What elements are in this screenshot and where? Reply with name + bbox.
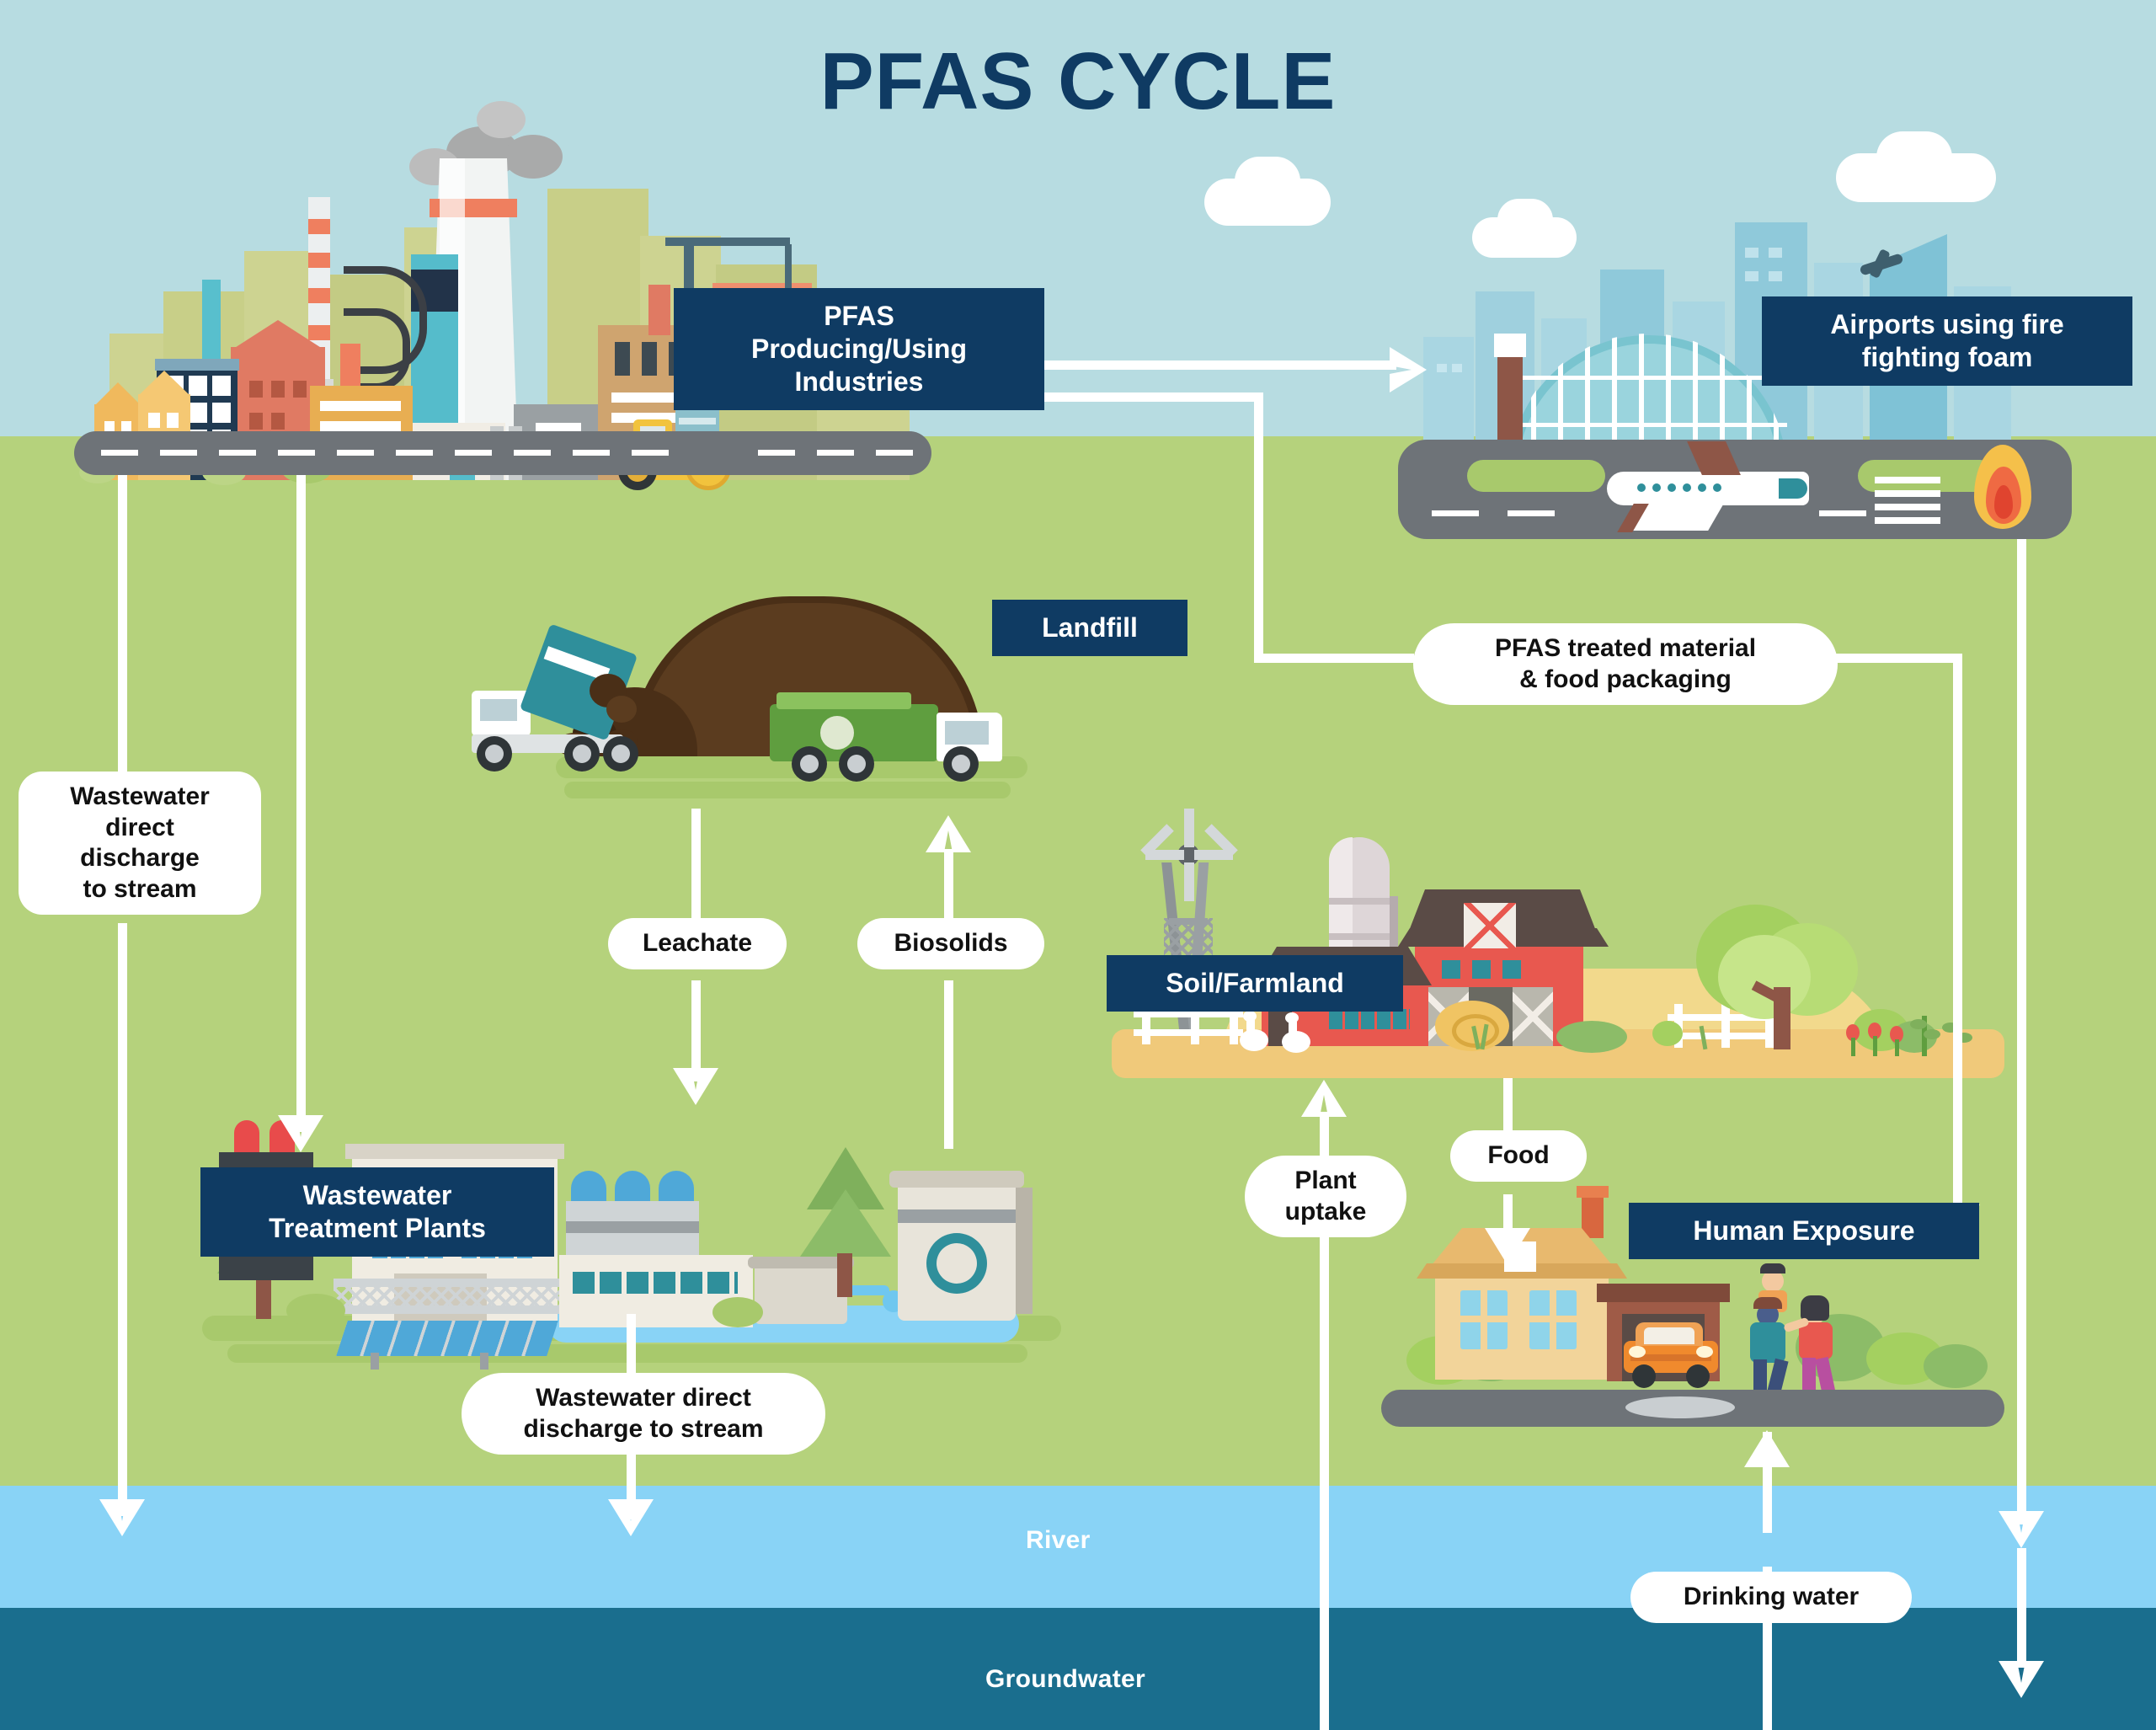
truck-hub xyxy=(952,755,970,773)
runway-dash xyxy=(1432,510,1479,516)
barn-window xyxy=(1442,960,1460,979)
goose-head xyxy=(1285,1012,1299,1023)
office-window xyxy=(212,376,231,396)
silo-top xyxy=(571,1171,606,1203)
flow-label-wastewater-direct-bottom[interactable]: Wastewater direct discharge to stream xyxy=(462,1373,825,1455)
airplane-window xyxy=(1652,483,1661,492)
arrow-treated-material-vertical xyxy=(1254,392,1263,654)
arrow-industries-to-airports xyxy=(1017,360,1396,370)
tulip-stem xyxy=(1895,1039,1899,1056)
truck-hub xyxy=(611,745,630,763)
car-headlight xyxy=(1629,1346,1646,1358)
panel-leg xyxy=(371,1353,379,1370)
building-roof xyxy=(345,1144,564,1159)
tree-trunk xyxy=(837,1253,852,1297)
skyline-window xyxy=(1452,364,1462,372)
road-dash xyxy=(758,450,795,456)
crop-leaf xyxy=(1924,1029,1940,1039)
arrow-treated-material-horizontal xyxy=(1254,654,1414,663)
node-label-human-exposure[interactable]: Human Exposure xyxy=(1629,1203,1979,1259)
warehouse-band xyxy=(320,421,401,431)
tree-canopy xyxy=(1718,935,1811,1019)
arrow-industries-to-wwtp xyxy=(296,475,306,1132)
office-window xyxy=(189,403,207,423)
tank-band xyxy=(898,1209,1016,1223)
stack-stripe xyxy=(308,288,330,303)
flow-label-wastewater-direct-left[interactable]: Wastewater direct discharge to stream xyxy=(19,772,261,915)
silo-top xyxy=(659,1171,694,1203)
skyline-window xyxy=(1769,271,1782,281)
factory-window xyxy=(249,381,263,398)
factory-window xyxy=(271,413,285,430)
tulip-stem xyxy=(1873,1036,1877,1056)
car-shadow xyxy=(1625,1396,1735,1418)
truck-hub xyxy=(847,755,866,773)
truck-window xyxy=(480,699,517,721)
window-mullion xyxy=(1460,1316,1508,1322)
shed-window-mullion xyxy=(1329,1009,1410,1029)
windmill-blade xyxy=(1184,809,1194,847)
road-dash xyxy=(876,450,913,456)
adult-hair xyxy=(1753,1297,1782,1309)
road-dash xyxy=(101,450,138,456)
runway-dash xyxy=(1819,510,1866,516)
truck-hub xyxy=(800,755,819,773)
truck-window xyxy=(945,721,989,745)
recycle-badge xyxy=(820,716,854,750)
flow-label-plant-uptake[interactable]: Plant uptake xyxy=(1245,1156,1406,1237)
clarifier-tank xyxy=(755,1263,847,1324)
stack-stripe xyxy=(308,219,330,234)
arrow-groundwater-plant-uptake-bottom xyxy=(1320,1651,1329,1730)
ground-strip xyxy=(564,782,1011,798)
node-label-industries[interactable]: PFAS Producing/Using Industries xyxy=(674,288,1044,410)
shrub xyxy=(1556,1021,1627,1053)
arrow-plant-uptake-mid xyxy=(1320,1236,1329,1651)
warehouse-band xyxy=(320,401,401,411)
barn-window xyxy=(1502,960,1521,979)
flow-label-leachate[interactable]: Leachate xyxy=(608,918,787,969)
road-dash xyxy=(396,450,433,456)
car-wheel xyxy=(1632,1364,1656,1388)
arrow-treated-material-down xyxy=(1953,654,1962,1218)
pine-tree xyxy=(800,1189,891,1257)
airplane-window xyxy=(1698,483,1706,492)
garbage-truck-top xyxy=(776,692,911,709)
crane-jib xyxy=(665,238,790,246)
shrub xyxy=(286,1294,345,1327)
glass-band xyxy=(679,418,716,424)
road-dash xyxy=(455,450,492,456)
barn-window xyxy=(1472,960,1491,979)
crop-leaf xyxy=(1910,1019,1927,1029)
garage-roof xyxy=(1597,1284,1730,1302)
road-dash xyxy=(632,450,669,456)
house-window xyxy=(167,413,179,428)
shrub xyxy=(712,1297,763,1327)
truck-hub xyxy=(485,745,504,763)
tank-support xyxy=(1016,1188,1033,1314)
recycle-icon-inner xyxy=(937,1243,977,1284)
skyline-window xyxy=(1769,248,1782,258)
chimney xyxy=(1582,1191,1604,1238)
arrow-wastewater-direct-to-river xyxy=(118,923,127,1516)
road-dash xyxy=(278,450,315,456)
panel-leg xyxy=(480,1353,488,1370)
factory-window xyxy=(293,381,307,398)
smoke-puff xyxy=(504,135,563,179)
adult2-body xyxy=(1799,1322,1833,1359)
car-windshield xyxy=(1644,1327,1694,1344)
red-stack xyxy=(234,1120,259,1154)
windmill-blade xyxy=(1184,862,1194,901)
industrial-road xyxy=(74,431,931,475)
shrub xyxy=(1652,1021,1683,1046)
node-label-wwtp[interactable]: Wastewater Treatment Plants xyxy=(200,1167,554,1257)
cloud-icon xyxy=(1876,131,1952,184)
arrow-airports-to-river xyxy=(2017,539,2026,1524)
crosswalk-stripe xyxy=(1875,477,1940,483)
cloud-icon xyxy=(1235,157,1300,206)
shrub xyxy=(1924,1344,1988,1388)
goose-head xyxy=(1243,1011,1257,1022)
dumping-waste xyxy=(606,696,637,723)
skyline-window xyxy=(1745,248,1758,258)
child-hair xyxy=(1760,1263,1785,1273)
silo-ring xyxy=(1329,933,1390,940)
factory-window xyxy=(249,413,263,430)
arrow-biosolids-bottom xyxy=(944,980,953,1149)
stack-stripe xyxy=(308,253,330,268)
chimney-cap xyxy=(1577,1186,1609,1198)
road-dash xyxy=(337,450,374,456)
office-window xyxy=(212,403,231,423)
truss-lattice xyxy=(334,1279,578,1314)
flow-label-pfas-treated-material[interactable]: PFAS treated material & food packaging xyxy=(1413,623,1838,705)
airplane-window xyxy=(1637,483,1646,492)
tower-window xyxy=(615,342,630,376)
smoke-puff xyxy=(477,101,526,138)
silo-ring xyxy=(1329,898,1390,905)
node-label-airports[interactable]: Airports using fire fighting foam xyxy=(1762,296,2132,386)
tower-window xyxy=(642,342,657,376)
crosswalk-stripe xyxy=(1875,490,1940,497)
silo-top xyxy=(615,1171,650,1203)
page-title: PFAS CYCLE xyxy=(0,35,2156,128)
node-label-soil-farmland[interactable]: Soil/Farmland xyxy=(1107,955,1403,1012)
airplane-window xyxy=(1683,483,1691,492)
flow-label-biosolids[interactable]: Biosolids xyxy=(857,918,1044,969)
window-mullion xyxy=(1529,1316,1577,1322)
process-mullion xyxy=(573,1272,738,1294)
farm-illustration xyxy=(1112,809,2004,1078)
road-dash xyxy=(573,450,610,456)
red-block xyxy=(648,285,670,335)
adult-body xyxy=(1750,1322,1785,1363)
solar-panel-grid xyxy=(336,1321,558,1356)
arrow-industries-to-treated-material xyxy=(1017,392,1263,402)
crosswalk-stripe xyxy=(1875,504,1940,510)
truck-hub xyxy=(573,745,591,763)
tank-top xyxy=(889,1171,1024,1188)
flow-label-drinking-water[interactable]: Drinking water xyxy=(1630,1572,1912,1623)
arrow-airports-to-groundwater xyxy=(2017,1548,2026,1668)
airplane-nose xyxy=(1779,478,1807,499)
fence-post xyxy=(1721,1004,1730,1048)
house-window xyxy=(148,413,160,428)
crosswalk-stripe xyxy=(1875,517,1940,524)
pfas-cycle-infographic: PFAS CYCLE xyxy=(0,0,2156,1730)
road-dash xyxy=(160,450,197,456)
tulip-stem xyxy=(1851,1038,1855,1056)
office-cap xyxy=(155,359,239,371)
house-roof xyxy=(94,382,141,406)
arrow-industries-to-wastewater-direct xyxy=(118,475,127,782)
node-label-landfill[interactable]: Landfill xyxy=(992,600,1187,656)
factory-window xyxy=(271,381,285,398)
flow-label-food[interactable]: Food xyxy=(1450,1130,1587,1182)
terminal-mullion-h xyxy=(1509,423,1787,427)
car-headlight xyxy=(1696,1346,1713,1358)
skyline-window xyxy=(1745,271,1758,281)
groundwater-band-label: Groundwater xyxy=(985,1665,1145,1694)
tarmac-median xyxy=(1467,460,1605,492)
tower-top xyxy=(1494,334,1526,357)
airplane-window xyxy=(1713,483,1721,492)
skyline-window xyxy=(1437,364,1447,372)
plant-band xyxy=(536,423,581,431)
airplane-window xyxy=(1668,483,1676,492)
car-wheel xyxy=(1686,1364,1710,1388)
road-dash xyxy=(817,450,854,456)
barn-loft-x xyxy=(1464,903,1516,948)
office-window xyxy=(189,376,207,396)
barn-door-x xyxy=(1513,987,1553,1046)
runway-dash xyxy=(1508,510,1555,516)
silo-band xyxy=(566,1221,699,1233)
landfill-illustration xyxy=(472,539,1145,800)
terminal-mullion-h xyxy=(1509,376,1787,380)
river-band-label: River xyxy=(1026,1526,1091,1555)
road-dash xyxy=(219,450,256,456)
adult2-hair xyxy=(1801,1295,1829,1321)
arrow-landfill-leachate-bottom xyxy=(691,980,701,1081)
factory-roof xyxy=(231,320,325,350)
road-dash xyxy=(514,450,551,456)
house-roof xyxy=(138,371,190,396)
